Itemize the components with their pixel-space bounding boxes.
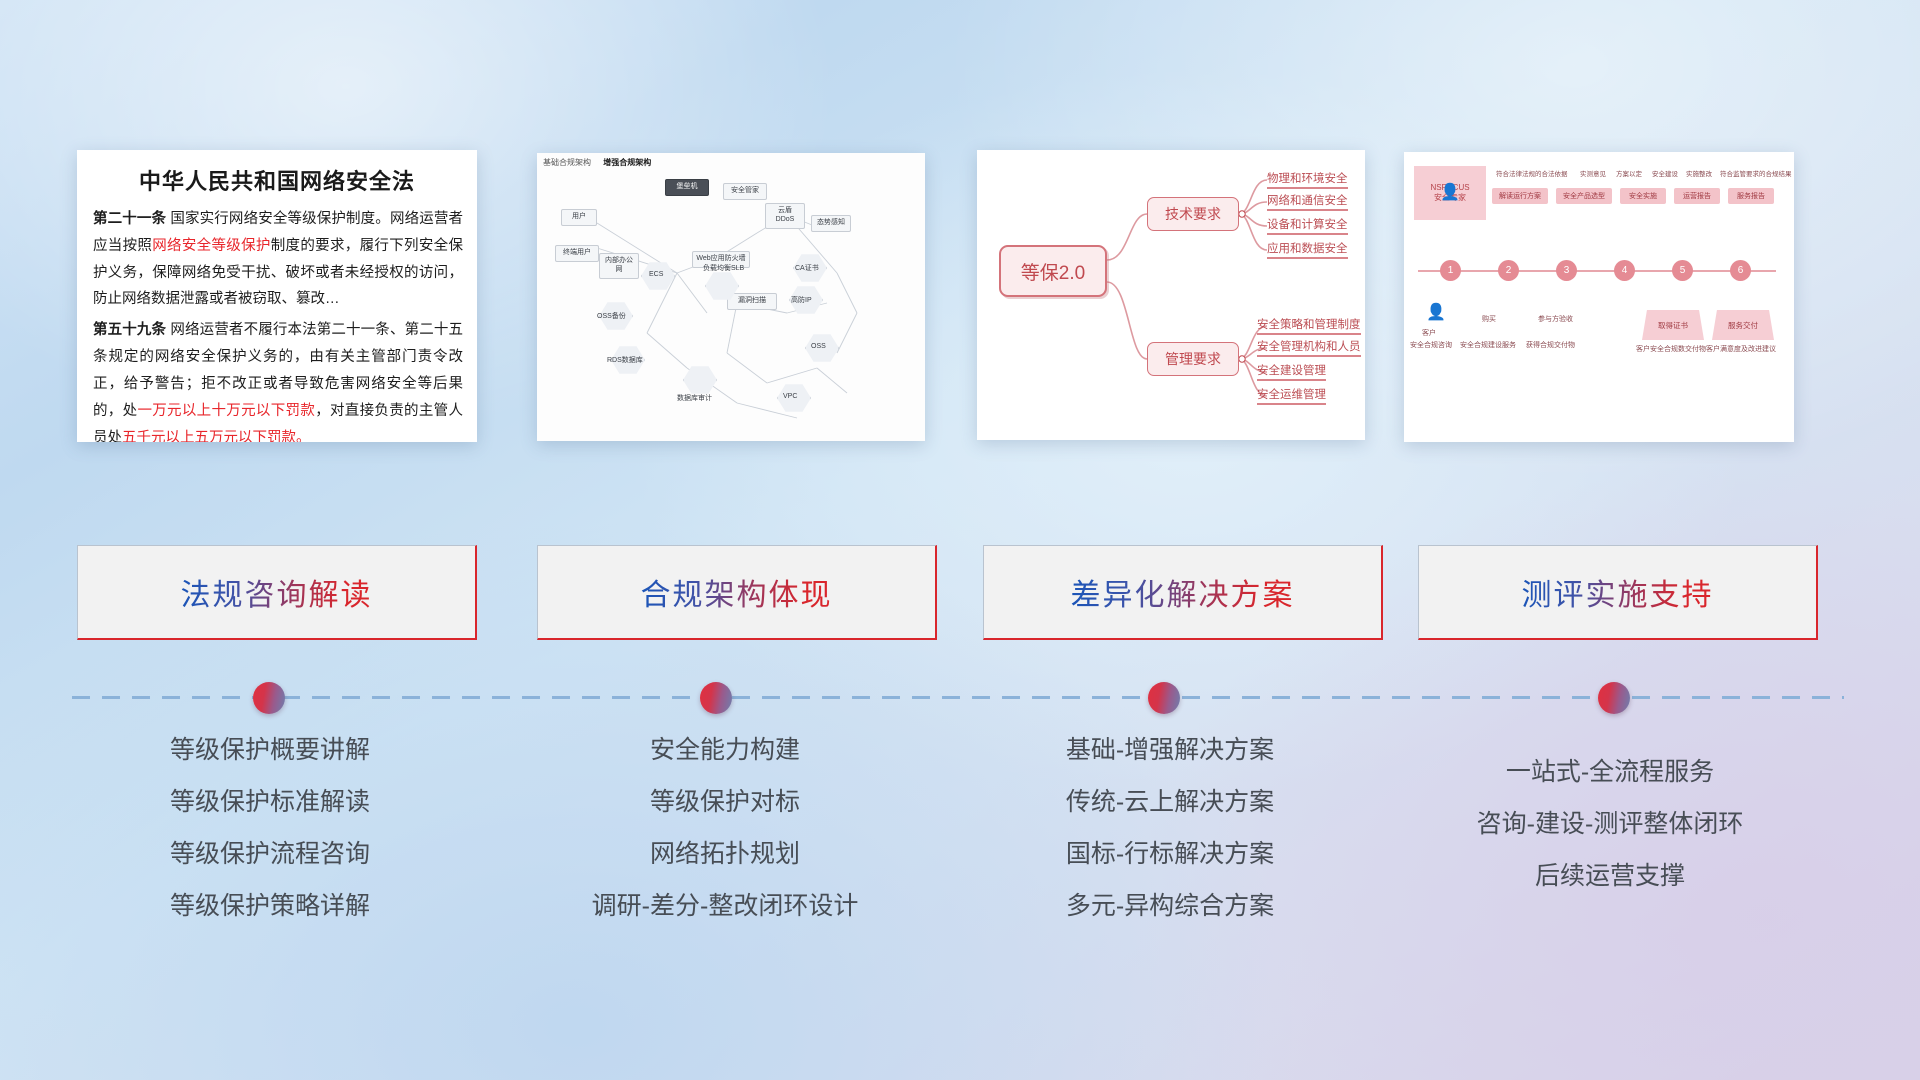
mindmap-leaf-physical-env: 物理和环境安全	[1267, 170, 1348, 189]
service-label-box-4[interactable]: 测评实施支持	[1418, 545, 1818, 640]
nsfocus-chip-2: 安全实施	[1620, 188, 1666, 204]
list-item: 后续运营支撑	[1400, 864, 1820, 889]
service-labels-row: 法规咨询解读 合规架构体现 差异化解决方案 测评实施支持	[0, 545, 1920, 645]
nsfocus-diagram: 👤 NSFOCUS 安全专家 符合法律法规的合法依据 实测意见 方案以定 安全建…	[1404, 152, 1794, 442]
architecture-diagram: 基础合规架构 增强合规架构 堡垒机 安全管家	[537, 153, 925, 441]
nsfocus-step-3: 3	[1556, 260, 1577, 281]
law-article-59-highlight-1: 一万元以上十万元以下罚款	[137, 403, 315, 419]
law-body: 第二十一条 国家实行网络安全等级保护制度。网络运营者应当按照网络安全等级保护制度…	[77, 206, 477, 442]
card-cybersecurity-law[interactable]: 中华人民共和国网络安全法 第二十一条 国家实行网络安全等级保护制度。网络运营者应…	[77, 150, 477, 442]
list-item: 等级保护标准解读	[60, 790, 480, 815]
architecture-node-security-manager: 安全管家	[723, 183, 767, 200]
service-label-box-1[interactable]: 法规咨询解读	[77, 545, 477, 640]
nsfocus-footer-purchase: 购买	[1482, 314, 1496, 324]
mindmap-leaf-policy-system: 安全策略和管理制度	[1257, 316, 1361, 335]
architecture-node-bastion: 堡垒机	[665, 179, 709, 196]
list-item: 等级保护流程咨询	[60, 842, 480, 867]
service-label-text-2: 合规架构体现	[641, 570, 833, 614]
detail-lists-row: 等级保护概要讲解 等级保护标准解读 等级保护流程咨询 等级保护策略详解 安全能力…	[0, 738, 1920, 938]
timeline-dot-2[interactable]	[700, 682, 732, 714]
architecture-label-vpc: VPC	[783, 393, 797, 400]
nsfocus-chip-1: 安全产品选型	[1556, 188, 1612, 204]
timeline-dot-4[interactable]	[1598, 682, 1630, 714]
detail-list-1: 等级保护概要讲解 等级保护标准解读 等级保护流程咨询 等级保护策略详解	[60, 738, 480, 946]
architecture-label-ecs: ECS	[649, 271, 663, 278]
nsfocus-step-5: 5	[1672, 260, 1693, 281]
detail-list-3: 基础-增强解决方案 传统-云上解决方案 国标-行标解决方案 多元-异构综合方案	[960, 738, 1380, 946]
nsfocus-trap-sub-0: 客户安全合规数交付物	[1636, 344, 1706, 354]
nsfocus-footer-build-service: 安全合规建设服务	[1460, 340, 1516, 350]
card-nsfocus-process[interactable]: 👤 NSFOCUS 安全专家 符合法律法规的合法依据 实测意见 方案以定 安全建…	[1404, 152, 1794, 442]
mindmap-branch-management: 管理要求	[1147, 342, 1239, 376]
architecture-label-gaofang: 高防IP	[791, 295, 812, 305]
architecture-label-ca: CA证书	[795, 263, 819, 273]
architecture-node-internal-office: 内部办公网	[599, 253, 639, 279]
timeline	[0, 678, 1920, 718]
architecture-label-oss: OSS	[811, 343, 826, 350]
nsfocus-step-6: 6	[1730, 260, 1751, 281]
list-item: 安全能力构建	[515, 738, 935, 763]
architecture-label-oss-backup: OSS备份	[597, 311, 626, 321]
nsfocus-chip-4: 服务报告	[1728, 188, 1774, 204]
law-title: 中华人民共和国网络安全法	[77, 150, 477, 206]
list-item: 基础-增强解决方案	[960, 738, 1380, 763]
list-item: 网络拓扑规划	[515, 842, 935, 867]
list-item: 咨询-建设-测评整体闭环	[1400, 812, 1820, 837]
mindmap-branch-technical: 技术要求	[1147, 197, 1239, 231]
nsfocus-header-1: 实测意见	[1580, 168, 1606, 178]
nsfocus-header-5: 符合监管要求的合规结果	[1720, 168, 1792, 178]
architecture-label-slb: 负载均衡SLB	[703, 263, 744, 273]
service-label-box-2[interactable]: 合规架构体现	[537, 545, 937, 640]
nsfocus-person-icon: 👤	[1440, 183, 1460, 204]
card-mindmap-dengbao[interactable]: 等保2.0 技术要求 物理和环境安全 网络和通信安全 设备和计算安全 应用和数据…	[977, 150, 1365, 440]
timeline-dot-1[interactable]	[253, 682, 285, 714]
architecture-node-situation: 态势感知	[811, 215, 851, 232]
mindmap-leaf-construction-mgmt: 安全建设管理	[1257, 362, 1326, 381]
nsfocus-trap-service-delivery: 服务交付	[1712, 310, 1774, 340]
architecture-label-rds: RDS数据库	[607, 355, 643, 365]
architecture-node-user: 用户	[561, 209, 597, 226]
list-item: 传统-云上解决方案	[960, 790, 1380, 815]
law-article-21-label: 第二十一条	[93, 211, 166, 227]
timeline-dot-3[interactable]	[1148, 682, 1180, 714]
service-label-text-1: 法规咨询解读	[181, 570, 373, 614]
law-article-59-highlight-2: 五千元以上五万元以下罚款。	[122, 430, 311, 443]
mindmap-leaf-ops-mgmt: 安全运维管理	[1257, 386, 1326, 405]
mindmap-leaf-network-comm: 网络和通信安全	[1267, 192, 1348, 211]
detail-list-4: 一站式-全流程服务 咨询-建设-测评整体闭环 后续运营支撑	[1400, 760, 1820, 916]
mindmap-root-node: 等保2.0	[999, 245, 1107, 297]
detail-list-2: 安全能力构建 等级保护对标 网络拓扑规划 调研-差分-整改闭环设计	[515, 738, 935, 946]
list-item: 一站式-全流程服务	[1400, 760, 1820, 785]
nsfocus-step-2: 2	[1498, 260, 1519, 281]
nsfocus-trap-certificate: 取得证书	[1642, 310, 1704, 340]
nsfocus-header-3: 安全建设	[1652, 168, 1678, 178]
architecture-label-db-audit: 数据库审计	[677, 393, 712, 403]
law-article-21: 第二十一条 国家实行网络安全等级保护制度。网络运营者应当按照网络安全等级保护制度…	[93, 206, 463, 313]
nsfocus-client-icon: 👤	[1426, 302, 1446, 322]
service-label-box-3[interactable]: 差异化解决方案	[983, 545, 1383, 640]
mindmap: 等保2.0 技术要求 物理和环境安全 网络和通信安全 设备和计算安全 应用和数据…	[977, 150, 1365, 440]
nsfocus-chip-0: 解读运行方案	[1492, 188, 1548, 204]
nsfocus-trap-sub-1: 客户满意度及改进建议	[1706, 344, 1776, 354]
architecture-node-endpoint-user: 终端用户	[555, 245, 599, 262]
mindmap-leaf-app-data: 应用和数据安全	[1267, 240, 1348, 259]
nsfocus-header-0: 符合法律法规的合法依据	[1496, 168, 1568, 178]
preview-cards-row: 中华人民共和国网络安全法 第二十一条 国家实行网络安全等级保护制度。网络运营者应…	[0, 0, 1920, 440]
nsfocus-header-4: 实施整改	[1686, 168, 1712, 178]
law-article-21-highlight: 网络安全等级保护	[152, 238, 271, 254]
card-compliance-architecture[interactable]: 基础合规架构 增强合规架构 堡垒机 安全管家	[537, 153, 925, 441]
nsfocus-footer-deliverables: 获得合规交付物	[1526, 340, 1575, 350]
nsfocus-footer-compliance-consulting: 安全合规咨询	[1410, 340, 1452, 350]
architecture-node-vuln-scan: 漏洞扫描	[727, 293, 777, 310]
list-item: 等级保护概要讲解	[60, 738, 480, 763]
list-item: 多元-异构综合方案	[960, 894, 1380, 919]
nsfocus-chip-3: 运营报告	[1674, 188, 1720, 204]
nsfocus-step-4: 4	[1614, 260, 1635, 281]
law-article-59-label: 第五十九条	[93, 322, 166, 338]
nsfocus-footer-participate: 参与方验收	[1538, 314, 1573, 324]
list-item: 国标-行标解决方案	[960, 842, 1380, 867]
service-label-text-3: 差异化解决方案	[1071, 570, 1295, 614]
nsfocus-header-2: 方案以定	[1616, 168, 1642, 178]
law-article-59: 第五十九条 网络运营者不履行本法第二十一条、第二十五条规定的网络安全保护义务的，…	[93, 317, 463, 442]
list-item: 等级保护对标	[515, 790, 935, 815]
architecture-node-ddos: 云盾 DDoS	[765, 203, 805, 229]
service-label-text-4: 测评实施支持	[1522, 570, 1714, 614]
list-item: 等级保护策略详解	[60, 894, 480, 919]
nsfocus-timeline-line	[1418, 270, 1776, 272]
nsfocus-brand-band: 👤 NSFOCUS 安全专家	[1414, 166, 1486, 220]
list-item: 调研-差分-整改闭环设计	[515, 894, 935, 919]
timeline-dashed-line	[72, 696, 1844, 699]
nsfocus-footer-client: 客户	[1422, 328, 1436, 338]
nsfocus-step-1: 1	[1440, 260, 1461, 281]
mindmap-leaf-org-personnel: 安全管理机构和人员	[1257, 338, 1361, 357]
mindmap-leaf-device-compute: 设备和计算安全	[1267, 216, 1348, 235]
